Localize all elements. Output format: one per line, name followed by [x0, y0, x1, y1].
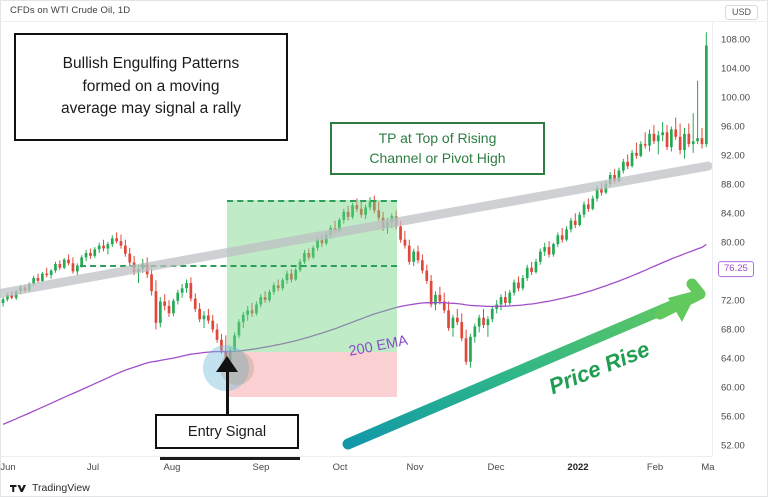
- price-tick: 100.00: [721, 93, 750, 104]
- time-tick: Oct: [333, 462, 348, 473]
- time-range-marker: [160, 457, 300, 460]
- price-tick: 88.00: [721, 180, 745, 191]
- entry-note-label: Entry Signal: [188, 424, 266, 440]
- chart-footer: TradingView: [0, 478, 768, 497]
- price-tick: 64.00: [721, 354, 745, 365]
- price-tick: 84.00: [721, 209, 745, 220]
- price-tick: 68.00: [721, 325, 745, 336]
- time-tick: Ma: [701, 462, 714, 473]
- price-axis[interactable]: 108.00 104.00 100.00 96.00 92.00 88.00 8…: [712, 22, 768, 456]
- price-tick: 52.00: [721, 441, 745, 452]
- price-tick: 108.00: [721, 35, 750, 46]
- take-profit-note: TP at Top of Rising Channel or Pivot Hig…: [330, 122, 545, 175]
- time-tick: Sep: [253, 462, 270, 473]
- time-tick: Jul: [87, 462, 99, 473]
- time-tick: Aug: [164, 462, 181, 473]
- entry-signal-note: Entry Signal: [155, 414, 299, 449]
- price-tick: 92.00: [721, 151, 745, 162]
- time-tick: Jun: [0, 462, 15, 473]
- time-tick: Dec: [488, 462, 505, 473]
- price-tick: 80.00: [721, 238, 745, 249]
- note-line-3: average may signal a rally: [61, 98, 241, 120]
- time-tick: Feb: [647, 462, 663, 473]
- price-tick: 56.00: [721, 412, 745, 423]
- price-tick: 96.00: [721, 122, 745, 133]
- tradingview-chart-screenshot: CFDs on WTI Crude Oil, 1D USD: [0, 0, 768, 497]
- note-line-1: Bullish Engulfing Patterns: [63, 53, 240, 75]
- price-tick: 72.00: [721, 296, 745, 307]
- time-tick-year: 2022: [567, 462, 588, 473]
- tp-line-2: Channel or Pivot High: [369, 149, 505, 169]
- note-line-2: formed on a moving: [83, 76, 220, 98]
- price-tick: 104.00: [721, 64, 750, 75]
- bullish-engulfing-note: Bullish Engulfing Patterns formed on a m…: [14, 33, 288, 141]
- current-price-badge[interactable]: 76.25: [718, 261, 754, 277]
- tradingview-logo-icon: [10, 483, 27, 494]
- tradingview-brand[interactable]: TradingView: [10, 482, 90, 494]
- currency-badge[interactable]: USD: [725, 5, 758, 20]
- chart-header: CFDs on WTI Crude Oil, 1D USD: [0, 0, 768, 22]
- price-tick: 60.00: [721, 383, 745, 394]
- tradingview-brand-label: TradingView: [32, 482, 90, 494]
- entry-signal-arrowhead: [214, 355, 242, 377]
- tp-line-1: TP at Top of Rising: [379, 129, 497, 149]
- time-tick: Nov: [407, 462, 424, 473]
- symbol-title: CFDs on WTI Crude Oil, 1D: [10, 5, 130, 16]
- time-axis[interactable]: Jun Jul Aug Sep Oct Nov Dec 2022 Feb Ma: [0, 456, 712, 478]
